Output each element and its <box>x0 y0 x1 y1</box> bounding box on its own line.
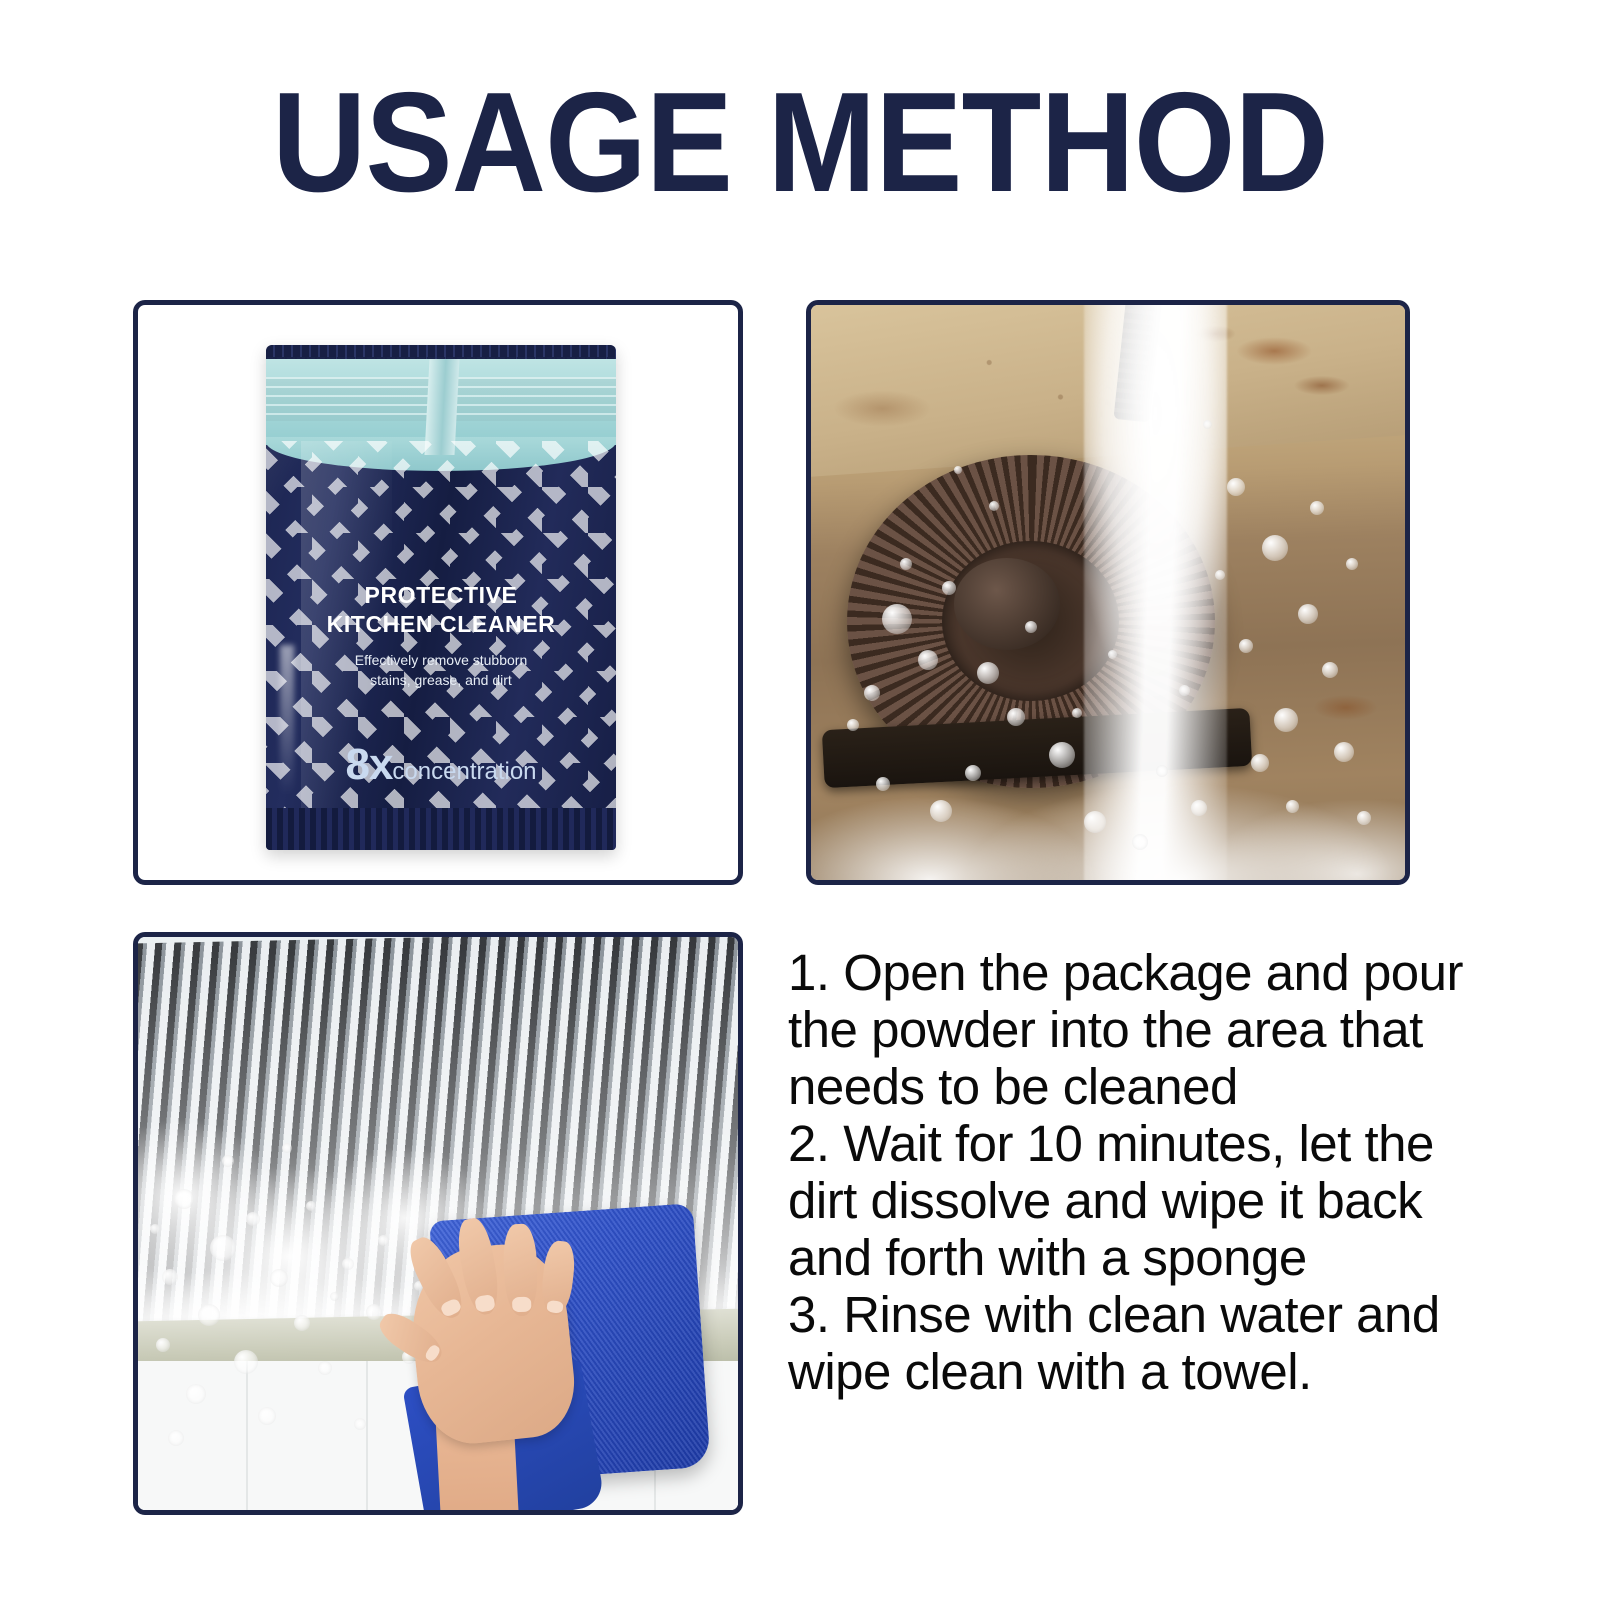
foam-bubble <box>847 719 859 731</box>
foam-bubble <box>876 777 890 791</box>
foam-bubble <box>1239 639 1253 653</box>
dirty-stove-panel <box>806 300 1410 885</box>
foam-bubble <box>900 558 912 570</box>
sachet-tagline-line2: stains, grease, and dirt <box>266 671 616 691</box>
sachet-product-name-line2: KITCHEN CLEANER <box>266 610 616 639</box>
sachet-tagline: Effectively remove stubborn stains, grea… <box>266 651 616 690</box>
foam-bubble <box>1203 420 1212 429</box>
foam-bubble <box>306 1201 316 1211</box>
foam-bubble <box>1251 754 1269 772</box>
foam-bubble <box>366 1304 382 1320</box>
foam-bubble <box>234 1350 258 1374</box>
foam-bubble <box>1191 800 1207 816</box>
sachet-concentration: 8xconcentration <box>266 743 616 787</box>
page-title: USAGE METHOD <box>64 72 1536 214</box>
foam-bubble <box>989 501 999 511</box>
foam-bubble <box>1286 800 1299 813</box>
foam-bubble <box>1108 650 1117 659</box>
foam-bubble <box>318 1361 332 1375</box>
foam-bubble <box>258 1407 276 1425</box>
foam-bubble <box>1227 478 1245 496</box>
foam-bubble <box>1334 742 1354 762</box>
foam-bubble <box>1357 811 1371 825</box>
product-package-panel: PROTECTIVE KITCHEN CLEANER Effectively r… <box>133 300 743 885</box>
foam-bubble <box>330 1292 339 1301</box>
foam-bubble <box>282 1143 292 1153</box>
foam-bubble <box>270 1269 288 1287</box>
sachet-tagline-line1: Effectively remove stubborn <box>266 651 616 671</box>
sachet-concentration-value: 8x <box>345 740 392 789</box>
foam-bubble <box>954 466 962 474</box>
foam-bubble <box>1215 570 1225 580</box>
stove-foam-bubbles <box>811 305 1405 880</box>
finger-ring <box>502 1223 538 1316</box>
sachet-concentration-label: concentration <box>392 758 536 785</box>
foam-bubble <box>1132 834 1148 850</box>
foam-bubble <box>342 1258 354 1270</box>
foam-bubble <box>1310 501 1324 515</box>
foam-bubble <box>930 800 952 822</box>
foam-bubble <box>210 1235 236 1261</box>
range-hood-photo <box>138 937 738 1510</box>
foam-bubble <box>294 1315 310 1331</box>
foam-bubble <box>1179 685 1190 696</box>
foam-bubble <box>162 1269 178 1285</box>
foam-bubble <box>1298 604 1318 624</box>
instruction-step-2: 2. Wait for 10 minutes, let the dirt dis… <box>788 1115 1488 1286</box>
foam-bubble <box>168 1430 184 1446</box>
foam-bubble <box>150 1224 160 1234</box>
foam-bubble <box>1156 765 1168 777</box>
usage-instructions: 1. Open the package and pour the powder … <box>788 944 1488 1400</box>
instruction-step-3: 3. Rinse with clean water and wipe clean… <box>788 1286 1488 1400</box>
foam-bubble <box>942 581 956 595</box>
foam-bubble <box>918 650 938 670</box>
foam-bubble <box>1007 708 1025 726</box>
range-hood-panel <box>133 932 743 1515</box>
foam-bubble <box>198 1304 220 1326</box>
stove-photo <box>811 305 1405 880</box>
foam-bubble <box>156 1338 170 1352</box>
sachet-product-name: PROTECTIVE KITCHEN CLEANER <box>266 581 616 640</box>
foam-bubble <box>1274 708 1298 732</box>
instruction-step-1: 1. Open the package and pour the powder … <box>788 944 1488 1115</box>
foam-bubble <box>1072 708 1082 718</box>
foam-bubble <box>1084 811 1106 833</box>
foam-bubble <box>1049 742 1075 768</box>
foam-bubble <box>174 1189 194 1209</box>
sachet-product-name-line1: PROTECTIVE <box>266 581 616 610</box>
foam-bubble <box>378 1235 389 1246</box>
foam-bubble <box>1346 558 1358 570</box>
foam-bubble <box>186 1384 206 1404</box>
foam-bubble <box>965 765 981 781</box>
foam-bubble <box>246 1212 260 1226</box>
product-sachet: PROTECTIVE KITCHEN CLEANER Effectively r… <box>266 345 616 850</box>
foam-bubble <box>1025 621 1037 633</box>
sachet-bottom-crimp <box>266 808 616 850</box>
foam-bubble <box>354 1418 366 1430</box>
foam-bubble <box>864 685 880 701</box>
foam-bubble <box>1262 535 1288 561</box>
foam-bubble <box>1322 662 1338 678</box>
foam-bubble <box>882 604 912 634</box>
foam-bubble <box>977 662 999 684</box>
foam-bubble <box>222 1155 234 1167</box>
